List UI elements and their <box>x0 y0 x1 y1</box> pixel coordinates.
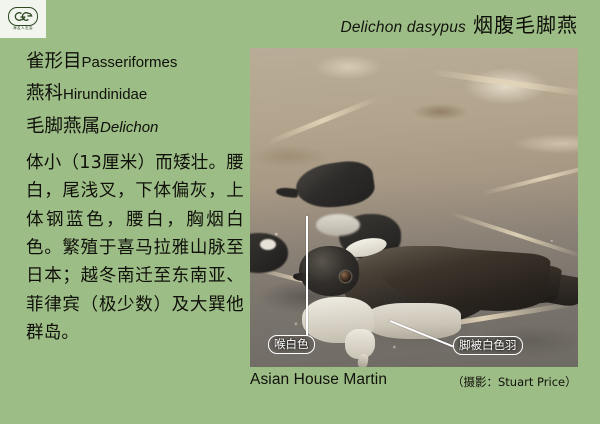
scientific-name: Delichon dasypus <box>340 19 466 37</box>
martin-belly <box>365 303 461 339</box>
card-header: Delichon dasypus 烟腹毛脚燕 <box>340 9 578 38</box>
taxonomy-genus-cn: 毛脚燕属 <box>26 116 100 137</box>
organization-logo-badge: 海名人志会 <box>0 0 46 38</box>
logo-subtext: 海名人志会 <box>13 27 33 31</box>
taxonomy-family: 燕科Hirundinidae <box>26 84 244 104</box>
info-column: 雀形目Passeriformes 燕科Hirundinidae 毛脚燕属Deli… <box>26 52 244 347</box>
background-martin-bill <box>276 187 299 198</box>
photo-credit: （摄影：Stuart Price） <box>452 374 577 390</box>
gg-monogram-icon <box>8 7 38 26</box>
callout-legs: 脚被白色羽 <box>453 336 523 355</box>
callout-throat: 喉白色 <box>268 335 315 354</box>
english-common-name: Asian House Martin <box>250 371 387 389</box>
species-photo: 喉白色 脚被白色羽 <box>250 48 578 367</box>
taxonomy-family-latin: Hirundinidae <box>63 86 147 103</box>
twig-decoration <box>481 160 578 195</box>
martin-head <box>299 246 359 296</box>
taxonomy-order-cn: 雀形目 <box>26 51 82 72</box>
taxonomy-genus-latin: Delichon <box>100 119 158 136</box>
taxonomy-genus: 毛脚燕属Delichon <box>26 117 244 137</box>
species-card: 海名人志会 Delichon dasypus 烟腹毛脚燕 雀形目Passerif… <box>0 0 600 424</box>
taxonomy-order-latin: Passeriformes <box>82 54 178 71</box>
species-description: 体小（13厘米）而矮壮。腰白，尾浅叉，下体偏灰，上体钢蓝色，腰白，胸烟白色。繁殖… <box>26 149 244 347</box>
taxonomy-order: 雀形目Passeriformes <box>26 52 244 72</box>
taxonomy-family-cn: 燕科 <box>26 83 63 104</box>
photo-background: 喉白色 脚被白色羽 <box>250 48 578 367</box>
background-martin-throat <box>316 214 360 236</box>
twig-decoration <box>431 69 578 97</box>
leader-line-throat <box>306 216 308 336</box>
chinese-name: 烟腹毛脚燕 <box>473 9 578 38</box>
twig-decoration <box>267 96 380 146</box>
